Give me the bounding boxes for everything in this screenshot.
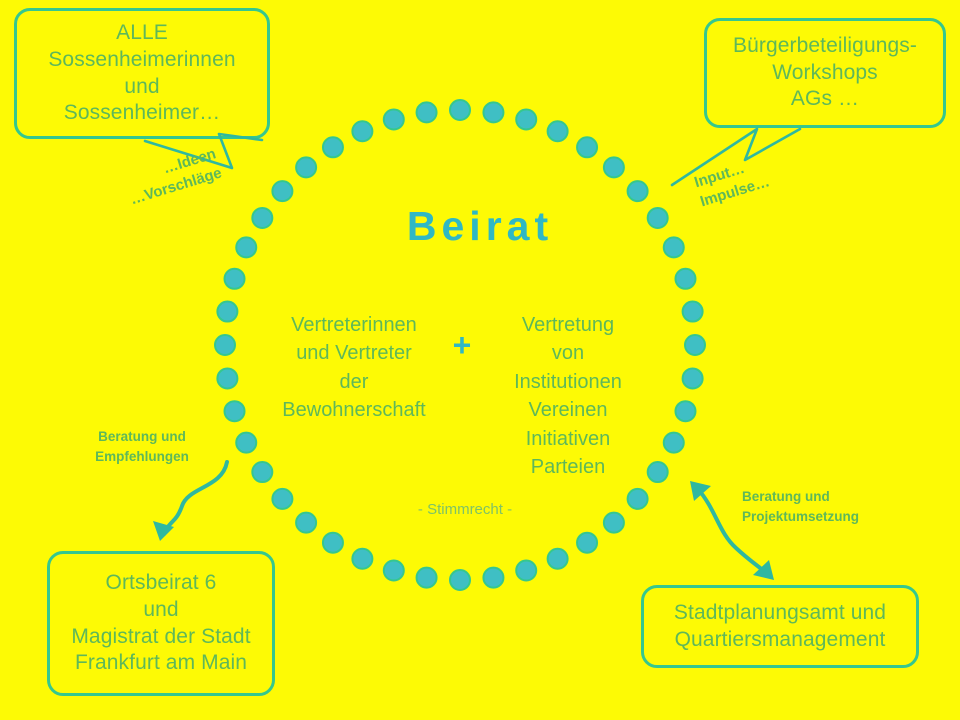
label-beratung-empfehlungen-line-2: Empfehlungen	[72, 447, 212, 467]
center-left-line-1: Vertreterinnen	[268, 311, 440, 339]
ring-dot	[225, 269, 245, 289]
ring-dot	[664, 433, 684, 453]
center-right-line-6: Parteien	[482, 453, 654, 481]
box-ortsbeirat-line-2: und	[143, 597, 178, 624]
ring-dot	[483, 102, 503, 122]
label-beratung-projektumsetzung: Beratung und Projektumsetzung	[742, 487, 922, 526]
ring-dot	[236, 433, 256, 453]
center-right-line-2: von	[482, 339, 654, 367]
center-left-column: Vertreterinnen und Vertreter der Bewohne…	[268, 311, 440, 425]
ring-dot	[296, 157, 316, 177]
bubble-alle-sossenheimer[interactable]: ALLE Sossenheimerinnen und Sossenheimer…	[14, 8, 270, 139]
bubble-workshops-line-1: Bürgerbeteiligungs-	[733, 33, 917, 60]
ring-dot	[252, 462, 272, 482]
box-stadtplanung-line-1: Stadtplanungsamt und	[674, 600, 886, 627]
ring-dot	[450, 570, 470, 590]
ring-dot	[352, 549, 372, 569]
ring-dot	[516, 560, 536, 580]
center-right-line-4: Vereinen	[482, 396, 654, 424]
box-stadtplanung-line-2: Quartiersmanagement	[675, 627, 886, 654]
ring-dot	[628, 181, 648, 201]
ring-dot	[323, 137, 343, 157]
center-right-column: Vertretung von Institutionen Vereinen In…	[482, 311, 654, 481]
ring-dot	[548, 549, 568, 569]
ring-dot	[384, 560, 404, 580]
plus-icon: +	[440, 329, 484, 361]
center-right-line-5: Initiativen	[482, 425, 654, 453]
bubble-workshops-line-3: AGs …	[791, 86, 859, 113]
ring-dot	[323, 533, 343, 553]
label-beratung-projekt-line-1: Beratung und	[742, 487, 922, 507]
label-beratung-empfehlungen: Beratung und Empfehlungen	[72, 427, 212, 466]
ring-dot	[577, 533, 597, 553]
ring-dot	[225, 401, 245, 421]
label-beratung-empfehlungen-line-1: Beratung und	[72, 427, 212, 447]
box-ortsbeirat-line-4: Frankfurt am Main	[75, 650, 247, 677]
box-ortsbeirat-line-3: Magistrat der Stadt	[71, 624, 250, 651]
ring-dot	[516, 110, 536, 130]
ring-dot	[683, 302, 703, 322]
ring-dot	[384, 110, 404, 130]
ring-dot	[417, 102, 437, 122]
center-right-line-1: Vertretung	[482, 311, 654, 339]
ring-dot	[217, 368, 237, 388]
center-right-line-3: Institutionen	[482, 368, 654, 396]
box-ortsbeirat-line-1: Ortsbeirat 6	[106, 570, 217, 597]
diagram-canvas: ALLE Sossenheimerinnen und Sossenheimer……	[0, 0, 960, 720]
ring-dot	[675, 401, 695, 421]
bubble-workshops-line-2: Workshops	[772, 60, 878, 87]
bubble-buergerbeteiligungs-workshops[interactable]: Bürgerbeteiligungs- Workshops AGs …	[704, 18, 946, 128]
ring-dot	[217, 302, 237, 322]
box-stadtplanungsamt-quartiersmanagement[interactable]: Stadtplanungsamt und Quartiersmanagement	[641, 585, 919, 668]
ring-dot	[272, 181, 292, 201]
ring-dot	[548, 121, 568, 141]
bubble-alle-line-3: und	[124, 74, 159, 101]
bubble-alle-line-2: Sossenheimerinnen	[48, 47, 235, 74]
ring-dot	[215, 335, 235, 355]
center-left-line-4: Bewohnerschaft	[268, 396, 440, 424]
center-left-line-3: der	[268, 368, 440, 396]
ring-dot	[683, 368, 703, 388]
ring-dot	[352, 121, 372, 141]
ring-dot	[685, 335, 705, 355]
ring-dot	[417, 568, 437, 588]
ring-dot	[483, 568, 503, 588]
box-ortsbeirat-magistrat[interactable]: Ortsbeirat 6 und Magistrat der Stadt Fra…	[47, 551, 275, 696]
bubble-alle-line-4: Sossenheimer…	[64, 100, 221, 127]
center-left-line-2: und Vertreter	[268, 339, 440, 367]
bubble-alle-line-1: ALLE	[116, 20, 168, 47]
label-beratung-projekt-line-2: Projektumsetzung	[742, 507, 922, 527]
ring-dot	[604, 157, 624, 177]
ring-dot	[450, 100, 470, 120]
ring-dot	[577, 137, 597, 157]
ring-dot	[675, 269, 695, 289]
page-title: Beirat	[0, 203, 960, 250]
